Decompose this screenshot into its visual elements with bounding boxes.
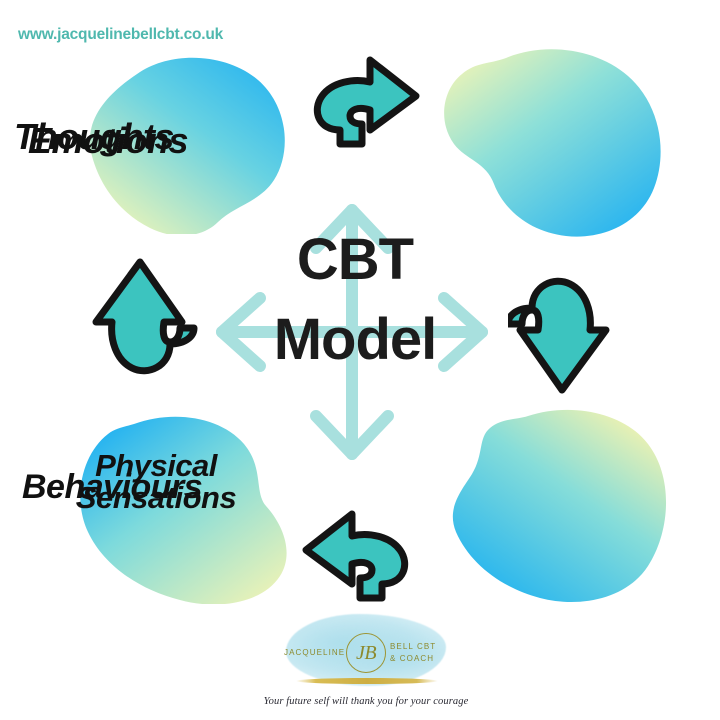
cbt-model-infographic: www.jacquelinebellcbt.co.uk Thoughts xyxy=(0,0,720,720)
logo-left-text: JACQUELINE xyxy=(284,647,342,659)
curved-arrow-up-icon xyxy=(92,248,198,380)
logo-gold-brushstroke xyxy=(296,678,438,684)
logo-monogram-text: JB xyxy=(356,642,376,665)
logo-monogram-jb: JB xyxy=(346,633,386,673)
four-way-cross-arrow-icon xyxy=(208,196,496,468)
node-label-emotions: Emotions xyxy=(28,122,268,159)
curved-arrow-right-icon xyxy=(310,52,422,148)
curved-arrow-down-icon xyxy=(508,272,612,402)
logo-right-text: BELL CBT & COACH xyxy=(390,641,448,665)
curved-arrow-left-icon xyxy=(298,506,412,602)
brand-logo[interactable]: JACQUELINE JB BELL CBT & COACH xyxy=(278,614,454,692)
website-url[interactable]: www.jacquelinebellcbt.co.uk xyxy=(18,26,223,44)
brand-tagline: Your future self will thank you for your… xyxy=(248,696,484,707)
node-label-behaviours: Behaviours xyxy=(22,470,266,505)
